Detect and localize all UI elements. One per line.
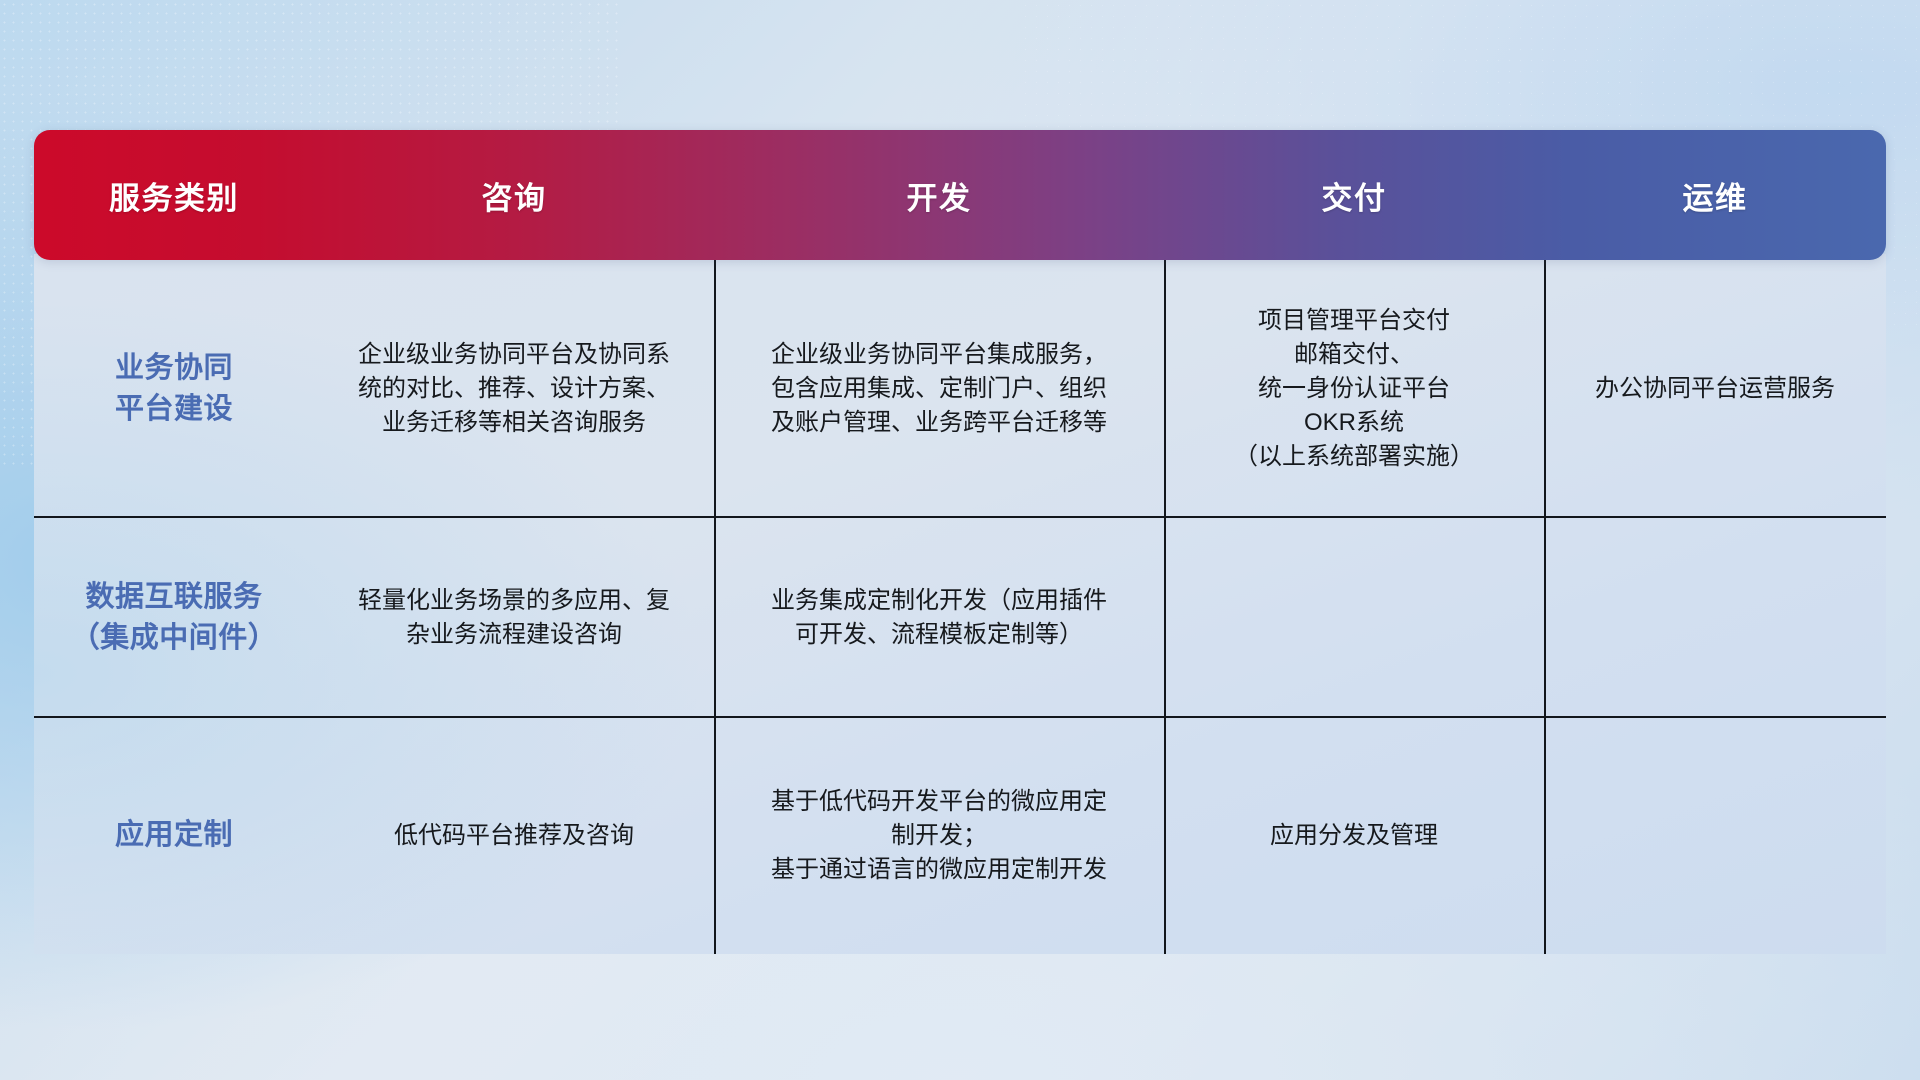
- table-body: 业务协同 平台建设 企业级业务协同平台及协同系 统的对比、推荐、设计方案、 业务…: [34, 254, 1886, 954]
- cell-operations: [1544, 518, 1886, 718]
- column-header-operations: 运维: [1544, 173, 1886, 218]
- cell-delivery: 项目管理平台交付 邮箱交付、 统一身份认证平台 OKR系统 （以上系统部署实施）: [1164, 260, 1544, 518]
- row-label-cell: 应用定制: [34, 718, 314, 954]
- service-matrix-table: 服务类别 咨询 开发 交付 运维 业务协同 平台建设 企业级业务协同平台及协同系…: [34, 130, 1886, 960]
- cell-text: 企业级业务协同平台及协同系 统的对比、推荐、设计方案、 业务迁移等相关咨询服务: [328, 338, 700, 440]
- table-row: 应用定制 低代码平台推荐及咨询 基于低代码开发平台的微应用定 制开发； 基于通过…: [34, 718, 1886, 954]
- cell-text: 办公协同平台运营服务: [1558, 372, 1872, 406]
- cell-text: 应用分发及管理: [1178, 819, 1530, 853]
- cell-delivery: 应用分发及管理: [1164, 718, 1544, 954]
- cell-consulting: 企业级业务协同平台及协同系 统的对比、推荐、设计方案、 业务迁移等相关咨询服务: [314, 260, 714, 518]
- row-label-cell: 数据互联服务 （集成中间件）: [34, 518, 314, 718]
- cell-text: 业务集成定制化开发（应用插件 可开发、流程模板定制等）: [728, 584, 1150, 652]
- column-header-service-category: 服务类别: [34, 173, 314, 218]
- row-label-text: 应用定制: [48, 815, 300, 856]
- cell-text: 项目管理平台交付 邮箱交付、 统一身份认证平台 OKR系统 （以上系统部署实施）: [1178, 304, 1530, 474]
- row-label-text: 数据互联服务 （集成中间件）: [48, 577, 300, 659]
- cell-text: 企业级业务协同平台集成服务， 包含应用集成、定制门户、组织 及账户管理、业务跨平…: [728, 338, 1150, 440]
- table-row: 数据互联服务 （集成中间件） 轻量化业务场景的多应用、复 杂业务流程建设咨询 业…: [34, 518, 1886, 718]
- cell-text: 轻量化业务场景的多应用、复 杂业务流程建设咨询: [328, 584, 700, 652]
- cell-delivery: [1164, 518, 1544, 718]
- cell-operations: [1544, 718, 1886, 954]
- cell-consulting: 轻量化业务场景的多应用、复 杂业务流程建设咨询: [314, 518, 714, 718]
- cell-development: 基于低代码开发平台的微应用定 制开发； 基于通过语言的微应用定制开发: [714, 718, 1164, 954]
- column-header-consulting: 咨询: [314, 173, 714, 218]
- cell-development: 企业级业务协同平台集成服务， 包含应用集成、定制门户、组织 及账户管理、业务跨平…: [714, 260, 1164, 518]
- table-header-row: 服务类别 咨询 开发 交付 运维: [34, 130, 1886, 260]
- cell-operations: 办公协同平台运营服务: [1544, 260, 1886, 518]
- column-header-development: 开发: [714, 173, 1164, 218]
- cell-development: 业务集成定制化开发（应用插件 可开发、流程模板定制等）: [714, 518, 1164, 718]
- row-label-text: 业务协同 平台建设: [48, 348, 300, 430]
- column-header-delivery: 交付: [1164, 173, 1544, 218]
- table-row: 业务协同 平台建设 企业级业务协同平台及协同系 统的对比、推荐、设计方案、 业务…: [34, 260, 1886, 518]
- cell-consulting: 低代码平台推荐及咨询: [314, 718, 714, 954]
- cell-text: 基于低代码开发平台的微应用定 制开发； 基于通过语言的微应用定制开发: [728, 785, 1150, 887]
- cell-text: 低代码平台推荐及咨询: [328, 819, 700, 853]
- row-label-cell: 业务协同 平台建设: [34, 260, 314, 518]
